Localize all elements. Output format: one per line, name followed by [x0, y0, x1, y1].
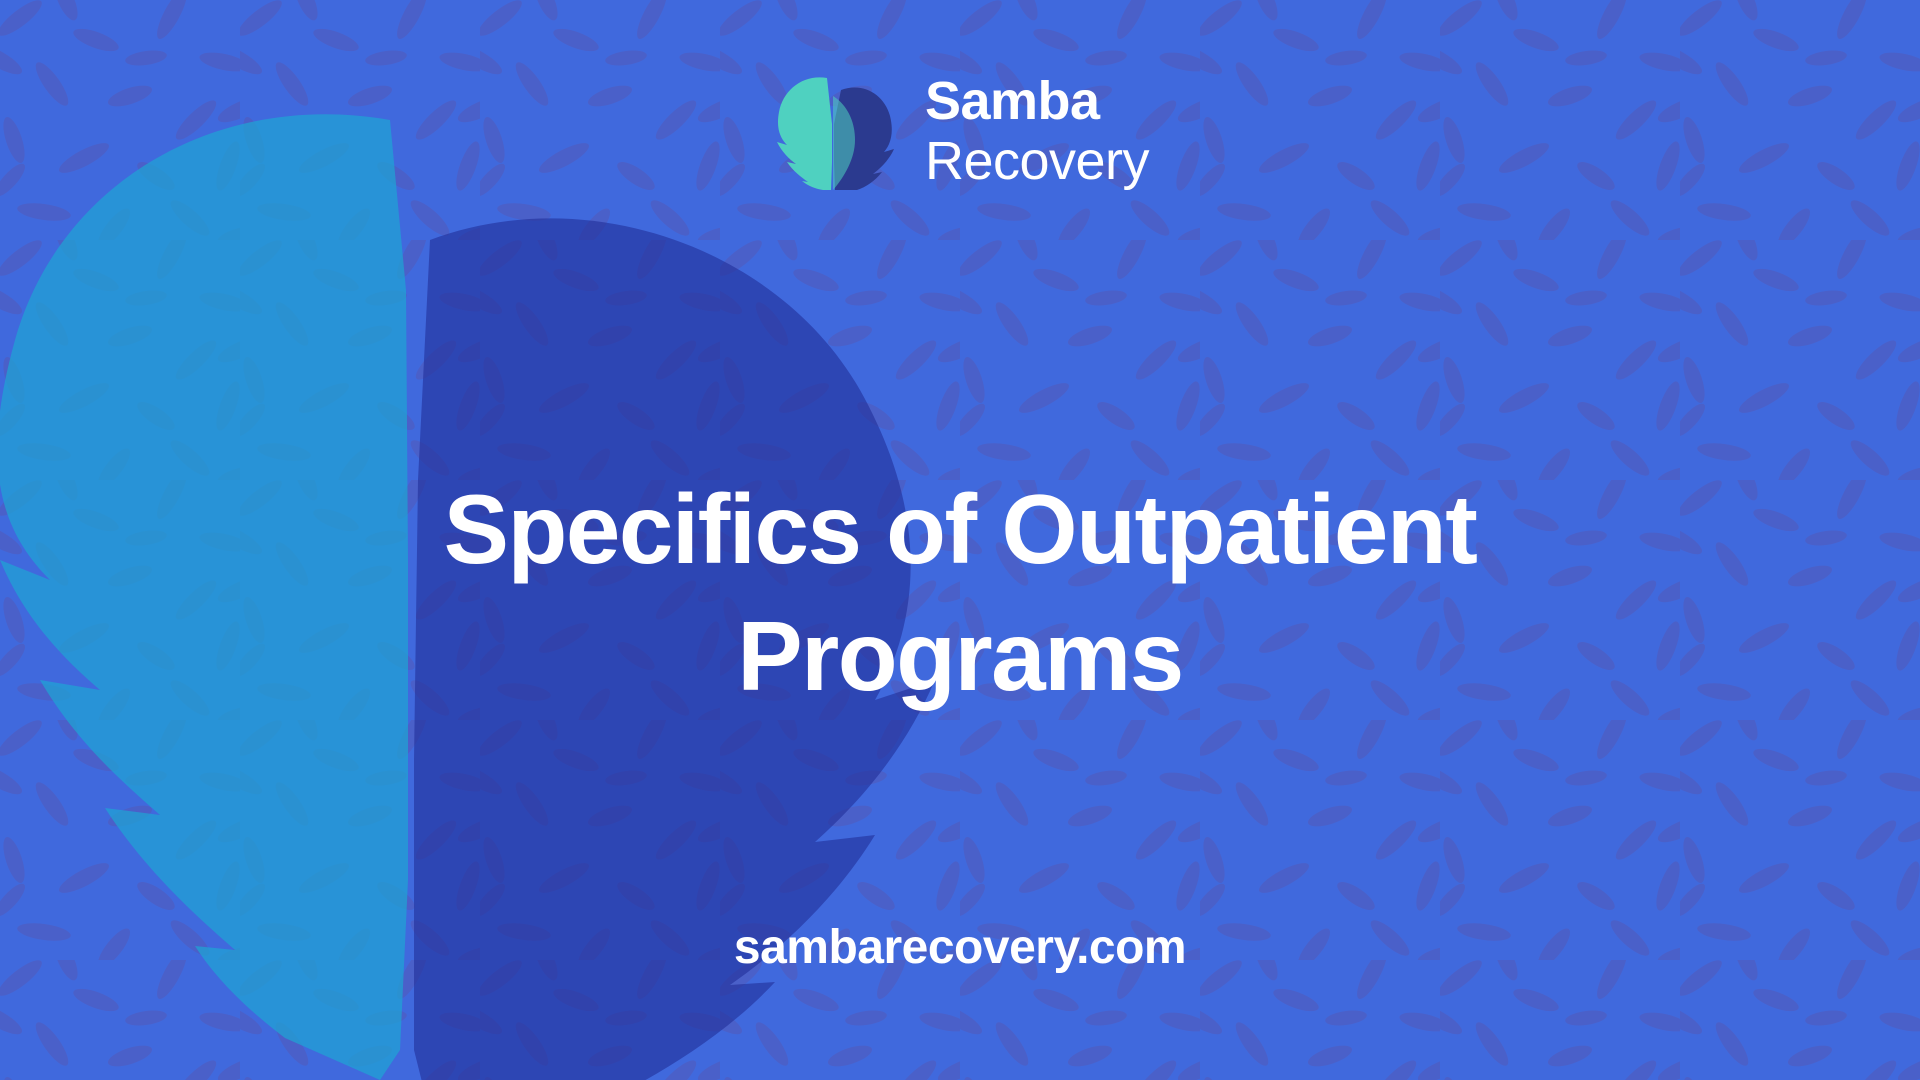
- website-url: sambarecovery.com: [734, 920, 1186, 975]
- brand-name-line-2: Recovery: [925, 134, 1149, 188]
- brand-logo-lockup: Samba Recovery: [0, 72, 1920, 190]
- page-title: Specifics of Outpatient Programs: [310, 466, 1610, 721]
- social-card-canvas: Samba Recovery Specifics of Outpatient P…: [0, 0, 1920, 1080]
- brand-wordmark: Samba Recovery: [925, 74, 1149, 188]
- headline-line-2: Programs: [737, 601, 1183, 711]
- headline-line-1: Specifics of Outpatient: [444, 474, 1477, 584]
- heart-feather-logo-icon: [771, 72, 899, 190]
- brand-name-line-1: Samba: [925, 74, 1149, 128]
- logo-left-feather: [777, 77, 832, 190]
